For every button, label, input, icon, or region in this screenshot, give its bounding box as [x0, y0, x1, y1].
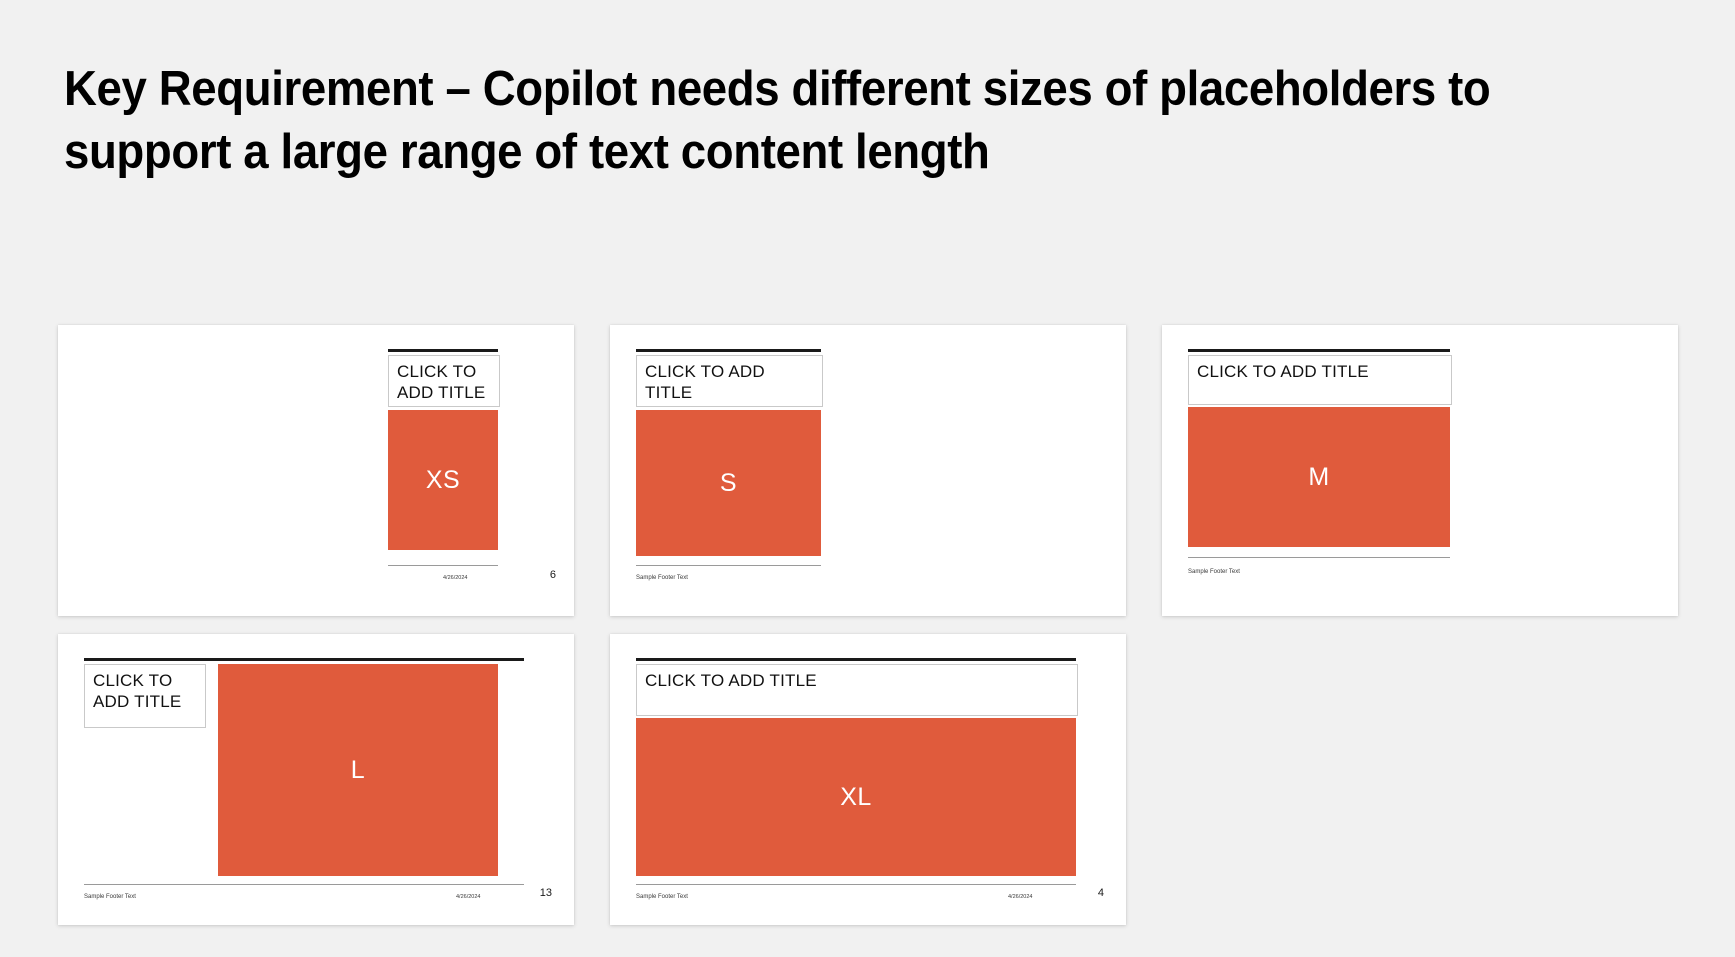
title-rule — [84, 658, 524, 661]
slide-card-xl[interactable]: CLICK TO ADD TITLE XL Sample Footer Text… — [610, 634, 1126, 925]
content-placeholder-xs[interactable]: XS — [388, 410, 498, 550]
title-placeholder[interactable]: CLICK TO ADD TITLE — [1188, 355, 1452, 405]
footer-divider — [388, 565, 498, 566]
content-placeholder-s[interactable]: S — [636, 410, 821, 556]
slide-card-m[interactable]: CLICK TO ADD TITLE M Sample Footer Text — [1162, 325, 1678, 616]
footer-divider — [636, 884, 1076, 885]
footer-divider — [1188, 557, 1450, 558]
footer-divider — [84, 884, 524, 885]
title-rule — [636, 349, 821, 352]
footer-date: 4/26/2024 — [456, 894, 480, 900]
footer-date: 4/26/2024 — [443, 575, 467, 581]
content-placeholder-l[interactable]: L — [218, 664, 498, 876]
title-placeholder[interactable]: CLICK TO ADD TITLE — [636, 355, 823, 407]
title-rule — [636, 658, 1076, 661]
footer-text: Sample Footer Text — [636, 575, 688, 581]
thumbnail-row-2: CLICK TO ADD TITLE L Sample Footer Text … — [58, 634, 1678, 925]
title-placeholder[interactable]: CLICK TO ADD TITLE — [388, 355, 500, 407]
title-placeholder[interactable]: CLICK TO ADD TITLE — [636, 664, 1078, 716]
footer-divider — [636, 565, 821, 566]
footer-text: Sample Footer Text — [84, 894, 136, 900]
slide-number: 6 — [550, 569, 556, 581]
title-rule — [388, 349, 498, 352]
slide-card-l[interactable]: CLICK TO ADD TITLE L Sample Footer Text … — [58, 634, 574, 925]
content-placeholder-xl[interactable]: XL — [636, 718, 1076, 876]
content-placeholder-m[interactable]: M — [1188, 407, 1450, 547]
slide-thumbnail-grid: CLICK TO ADD TITLE XS 4/26/2024 6 CLICK … — [58, 325, 1678, 943]
slide-number: 13 — [540, 887, 552, 899]
slide-card-s[interactable]: CLICK TO ADD TITLE S Sample Footer Text — [610, 325, 1126, 616]
page-title: Key Requirement – Copilot needs differen… — [64, 58, 1533, 183]
footer-text: Sample Footer Text — [636, 894, 688, 900]
thumbnail-row-1: CLICK TO ADD TITLE XS 4/26/2024 6 CLICK … — [58, 325, 1678, 616]
title-rule — [1188, 349, 1450, 352]
slide-card-xs[interactable]: CLICK TO ADD TITLE XS 4/26/2024 6 — [58, 325, 574, 616]
title-placeholder[interactable]: CLICK TO ADD TITLE — [84, 664, 206, 728]
slide-number: 4 — [1098, 887, 1104, 899]
footer-text: Sample Footer Text — [1188, 569, 1240, 575]
footer-date: 4/26/2024 — [1008, 894, 1032, 900]
